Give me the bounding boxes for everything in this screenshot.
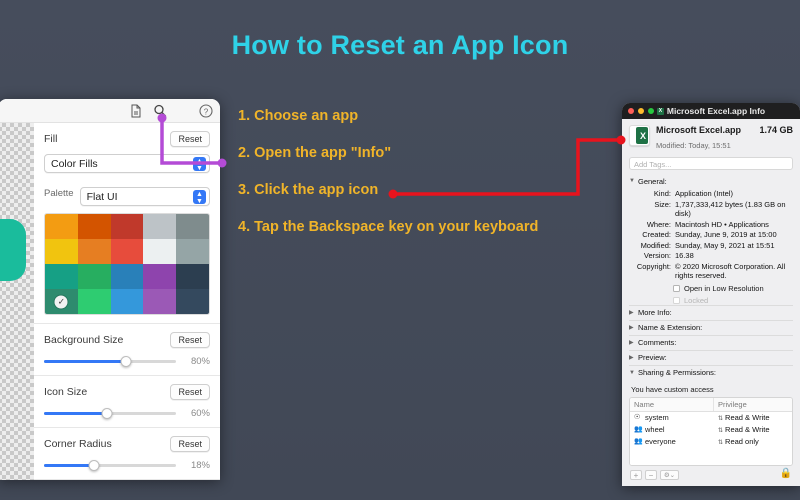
icon-preview-area xyxy=(0,123,34,480)
fill-label: Fill xyxy=(44,133,57,145)
permissions-footer: + − ⚙⌄ 🔒 xyxy=(622,466,800,480)
section-label: Sharing & Permissions: xyxy=(638,368,716,377)
search-icon[interactable] xyxy=(152,103,168,119)
color-swatch[interactable]: ✓ xyxy=(45,289,78,314)
info-row-key: Modified: xyxy=(629,241,675,251)
info-row-key: Where: xyxy=(629,220,675,230)
slider-reset-button[interactable]: Reset xyxy=(170,436,210,452)
slider-section: Background SizeReset80% xyxy=(34,324,220,376)
section-label: Name & Extension: xyxy=(638,323,702,332)
add-tags-field[interactable]: Add Tags... xyxy=(629,157,793,170)
section-label: Comments: xyxy=(638,338,676,347)
info-row-value: Application (Intel) xyxy=(675,189,793,199)
color-swatch[interactable] xyxy=(143,289,176,314)
fill-type-dropdown[interactable]: Color Fills ▲▼ xyxy=(44,154,210,173)
checkbox-label: Locked xyxy=(684,296,708,305)
check-icon: ✓ xyxy=(55,295,68,308)
info-row-value: © 2020 Microsoft Corporation. All rights… xyxy=(675,262,793,281)
color-swatch[interactable] xyxy=(143,239,176,264)
permission-row[interactable]: ☉system⇅Read & Write xyxy=(630,412,792,424)
step-2: 2. Open the app "Info" xyxy=(238,145,598,161)
checkbox-label: Open in Low Resolution xyxy=(684,284,764,293)
help-icon[interactable]: ? xyxy=(198,103,214,119)
slider-track[interactable] xyxy=(44,464,176,467)
color-swatch-grid[interactable]: ✓ xyxy=(44,213,210,315)
other-sections: ▶More Info:▶Name & Extension:▶Comments:▶… xyxy=(629,305,793,380)
general-rows: Kind:Application (Intel)Size:1,737,333,4… xyxy=(629,189,793,281)
file-modified: Modified: Today, 15:51 xyxy=(656,141,731,150)
color-swatch[interactable] xyxy=(111,289,144,314)
permission-name: system xyxy=(645,413,669,422)
chevron-down-icon: ▼ xyxy=(629,178,635,184)
slider-label: Background Size xyxy=(44,334,123,346)
info-row: Where:Macintosh HD • Applications xyxy=(629,220,793,230)
slider-knob[interactable] xyxy=(102,408,113,419)
checkbox-icon[interactable] xyxy=(673,285,680,292)
info-row-value: 16.38 xyxy=(675,251,793,261)
file-name: Microsoft Excel.app xyxy=(656,125,741,135)
palette-dropdown[interactable]: Flat UI ▲▼ xyxy=(80,187,210,206)
people-icon: 👥 xyxy=(634,438,642,446)
color-swatch[interactable] xyxy=(176,264,209,289)
color-swatch[interactable] xyxy=(143,264,176,289)
info-row-value: Sunday, June 9, 2019 at 15:00 xyxy=(675,230,793,240)
slider-value: 60% xyxy=(184,408,210,419)
lock-icon[interactable]: 🔒 xyxy=(780,468,792,479)
slider-knob[interactable] xyxy=(120,356,131,367)
user-icon: ☉ xyxy=(634,414,642,422)
color-swatch[interactable] xyxy=(176,214,209,239)
excel-mini-icon xyxy=(657,108,664,115)
info-row-key: Size: xyxy=(629,200,675,219)
slider-value: 80% xyxy=(184,356,210,367)
canvas: How to Reset an App Icon 1. Choose an ap… xyxy=(0,0,800,500)
color-swatch[interactable] xyxy=(45,239,78,264)
steps-list: 1. Choose an app 2. Open the app "Info" … xyxy=(238,108,598,256)
slider-section: Icon SizeReset60% xyxy=(34,376,220,428)
permissions-empty-space xyxy=(630,448,792,465)
step-3: 3. Click the app icon xyxy=(238,182,598,198)
color-swatch[interactable] xyxy=(78,214,111,239)
slider-knob[interactable] xyxy=(89,460,100,471)
step-1: 1. Choose an app xyxy=(238,108,598,124)
permission-privilege[interactable]: ⇅Read & Write xyxy=(714,424,792,436)
chevron-right-icon: ▶ xyxy=(629,339,635,346)
fill-type-value: Color Fills xyxy=(51,158,98,170)
add-permission-button[interactable]: + xyxy=(630,470,642,480)
info-row-key: Kind: xyxy=(629,189,675,199)
slider-reset-button[interactable]: Reset xyxy=(170,384,210,400)
chevron-updown-icon: ⇅ xyxy=(718,428,723,434)
file-size: 1.74 GB xyxy=(759,125,793,135)
chevron-right-icon: ▶ xyxy=(629,309,635,316)
info-row: Size:1,737,333,412 bytes (1.83 GB on dis… xyxy=(629,200,793,219)
slider-label: Corner Radius xyxy=(44,438,112,450)
slider-section: Corner RadiusReset18% xyxy=(34,428,220,480)
color-swatch[interactable] xyxy=(45,214,78,239)
slider-reset-button[interactable]: Reset xyxy=(170,332,210,348)
info-disclosure-list: ▼ General: Kind:Application (Intel)Size:… xyxy=(622,170,800,382)
slider-label: Icon Size xyxy=(44,386,87,398)
editor-settings-panel: Fill Reset Color Fills ▲▼ Palette Flat U… xyxy=(34,123,220,480)
color-swatch[interactable] xyxy=(143,214,176,239)
section-general-label: General: xyxy=(638,177,667,186)
custom-access-text: You have custom access xyxy=(622,382,800,397)
chevron-updown-icon: ⇅ xyxy=(718,440,723,446)
slider-track[interactable] xyxy=(44,360,176,363)
info-row: Kind:Application (Intel) xyxy=(629,189,793,199)
color-swatch[interactable] xyxy=(78,239,111,264)
chevron-right-icon: ▶ xyxy=(629,324,635,331)
permission-row[interactable]: 👥everyone⇅Read only xyxy=(630,436,792,448)
section-label: More Info: xyxy=(638,308,672,317)
color-swatch[interactable] xyxy=(78,264,111,289)
excel-app-icon[interactable]: X xyxy=(629,125,650,146)
document-icon[interactable] xyxy=(128,103,144,119)
info-header: X Microsoft Excel.app 1.74 GB Modified: … xyxy=(622,119,800,157)
info-row-key: Created: xyxy=(629,230,675,240)
chevron-updown-icon[interactable]: ▲▼ xyxy=(193,157,206,171)
palette-value: Flat UI xyxy=(87,191,118,203)
checkbox-row[interactable]: Locked xyxy=(673,296,793,305)
permission-row[interactable]: 👥wheel⇅Read & Write xyxy=(630,424,792,436)
checkbox-icon[interactable] xyxy=(673,297,680,304)
info-row-value: 1,737,333,412 bytes (1.83 GB on disk) xyxy=(675,200,793,219)
section-name-extension[interactable]: ▶Name & Extension: xyxy=(629,320,793,335)
color-swatch[interactable] xyxy=(176,289,209,314)
section-preview[interactable]: ▶Preview: xyxy=(629,350,793,365)
chevron-updown-icon[interactable]: ▲▼ xyxy=(193,190,206,204)
app-icon-preview[interactable] xyxy=(0,219,26,281)
icon-editor-window: ? Fill Reset Color Fills ▲▼ xyxy=(0,99,220,480)
gear-icon[interactable]: ⚙⌄ xyxy=(660,470,679,480)
section-comments[interactable]: ▶Comments: xyxy=(629,335,793,350)
checkbox-row[interactable]: Open in Low Resolution xyxy=(673,284,793,293)
info-row-key: Version: xyxy=(629,251,675,261)
color-swatch[interactable] xyxy=(111,239,144,264)
slider-value: 18% xyxy=(184,460,210,471)
info-row: Copyright:© 2020 Microsoft Corporation. … xyxy=(629,262,793,281)
fill-section: Fill Reset Color Fills ▲▼ Palette Flat U… xyxy=(34,123,220,324)
editor-toolbar: ? xyxy=(0,99,220,123)
info-window: Microsoft Excel.app Info X Microsoft Exc… xyxy=(622,103,800,486)
color-swatch[interactable] xyxy=(111,264,144,289)
permissions-table: Name Privilege ☉system⇅Read & Write👥whee… xyxy=(629,397,793,466)
page-title: How to Reset an App Icon xyxy=(0,30,800,61)
permission-name: wheel xyxy=(645,425,665,434)
info-row: Created:Sunday, June 9, 2019 at 15:00 xyxy=(629,230,793,240)
step-4: 4. Tap the Backspace key on your keyboar… xyxy=(238,219,598,235)
info-row: Version:16.38 xyxy=(629,251,793,261)
info-row-key: Copyright: xyxy=(629,262,675,281)
permissions-header: Name Privilege xyxy=(630,398,792,412)
palette-label: Palette xyxy=(44,188,74,199)
info-row-value: Sunday, May 9, 2021 at 15:51 xyxy=(675,241,793,251)
group-icon: 👥 xyxy=(634,426,642,434)
section-more-info[interactable]: ▶More Info: xyxy=(629,305,793,320)
chevron-updown-icon: ⇅ xyxy=(718,416,723,422)
section-general[interactable]: ▼ General: xyxy=(629,174,793,188)
column-privilege: Privilege xyxy=(714,398,792,411)
slider-sections: Background SizeReset80%Icon SizeReset60%… xyxy=(34,324,220,480)
section-label: Preview: xyxy=(638,353,667,362)
svg-text:?: ? xyxy=(204,107,209,116)
info-window-title: Microsoft Excel.app Info xyxy=(622,106,800,116)
section-sharing-permissions[interactable]: ▼Sharing & Permissions: xyxy=(629,365,793,380)
color-swatch[interactable] xyxy=(78,289,111,314)
permission-name: everyone xyxy=(645,437,676,446)
slider-track[interactable] xyxy=(44,412,176,415)
color-swatch[interactable] xyxy=(45,264,78,289)
info-window-titlebar: Microsoft Excel.app Info xyxy=(622,103,800,119)
color-swatch[interactable] xyxy=(176,239,209,264)
permission-privilege[interactable]: ⇅Read & Write xyxy=(714,412,792,424)
permission-privilege[interactable]: ⇅Read only xyxy=(714,436,792,448)
color-swatch[interactable] xyxy=(111,214,144,239)
info-row-value: Macintosh HD • Applications xyxy=(675,220,793,230)
info-row: Modified:Sunday, May 9, 2021 at 15:51 xyxy=(629,241,793,251)
chevron-right-icon: ▶ xyxy=(629,354,635,361)
remove-permission-button[interactable]: − xyxy=(645,470,657,480)
chevron-down-icon: ▼ xyxy=(629,370,635,376)
fill-reset-button[interactable]: Reset xyxy=(170,131,210,147)
column-name: Name xyxy=(630,398,714,411)
general-checkboxes: Open in Low ResolutionLocked xyxy=(629,284,793,305)
